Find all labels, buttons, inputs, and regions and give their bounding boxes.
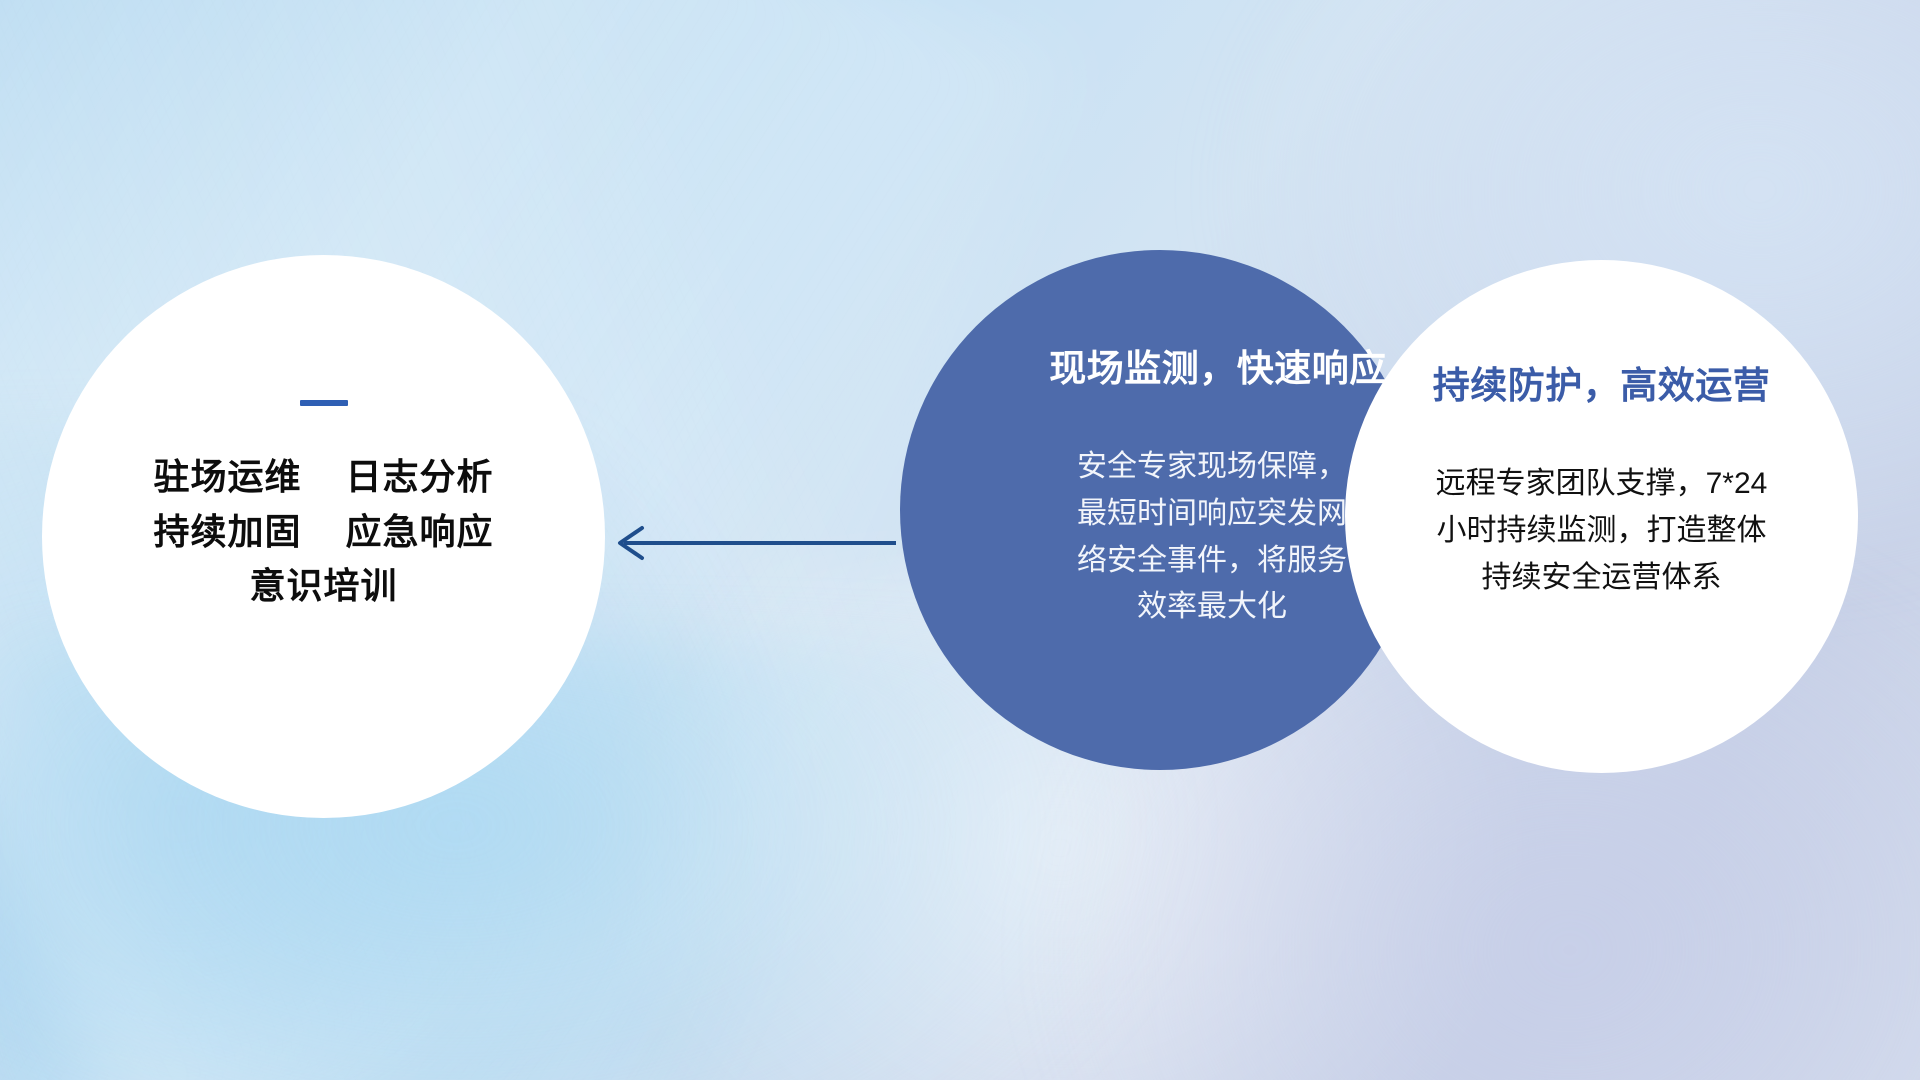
continuous-protection-body-line: 小时持续监测，打造整体 [1436,508,1768,555]
continuous-protection-title: 持续防护，高效运营 [1433,355,1771,409]
onsite-monitoring-body-line: 络安全事件，将服务 [1077,538,1347,585]
capability-line: 意识培训 [153,559,493,614]
onsite-monitoring-body-line: 最短时间响应突发网 [1077,491,1347,538]
capability-line: 驻场运维 日志分析 [153,450,493,505]
onsite-monitoring-body: 安全专家现场保障， 最短时间响应突发网 络安全事件，将服务 效率最大化 [1077,444,1347,631]
continuous-protection-body: 远程专家团队支撑，7*24 小时持续监测，打造整体 持续安全运营体系 [1436,461,1768,601]
onsite-monitoring-title: 现场监测，快速响应 [1049,338,1387,392]
capability-line: 持续加固 应急响应 [153,505,493,560]
onsite-monitoring-circle: 现场监测，快速响应 安全专家现场保障， 最短时间响应突发网 络安全事件，将服务 … [900,250,1420,770]
capability-list: 驻场运维 日志分析 持续加固 应急响应 意识培训 [153,450,493,614]
left-arrow-icon [598,508,898,578]
divider-dash-icon [300,400,348,406]
continuous-protection-body-line: 远程专家团队支撑，7*24 [1436,461,1768,508]
onsite-monitoring-body-line: 效率最大化 [1077,584,1347,631]
onsite-monitoring-body-line: 安全专家现场保障， [1077,444,1347,491]
continuous-protection-circle: 持续防护，高效运营 远程专家团队支撑，7*24 小时持续监测，打造整体 持续安全… [1345,260,1858,773]
continuous-protection-body-line: 持续安全运营体系 [1436,555,1768,602]
service-capabilities-circle: 驻场运维 日志分析 持续加固 应急响应 意识培训 [42,255,605,818]
